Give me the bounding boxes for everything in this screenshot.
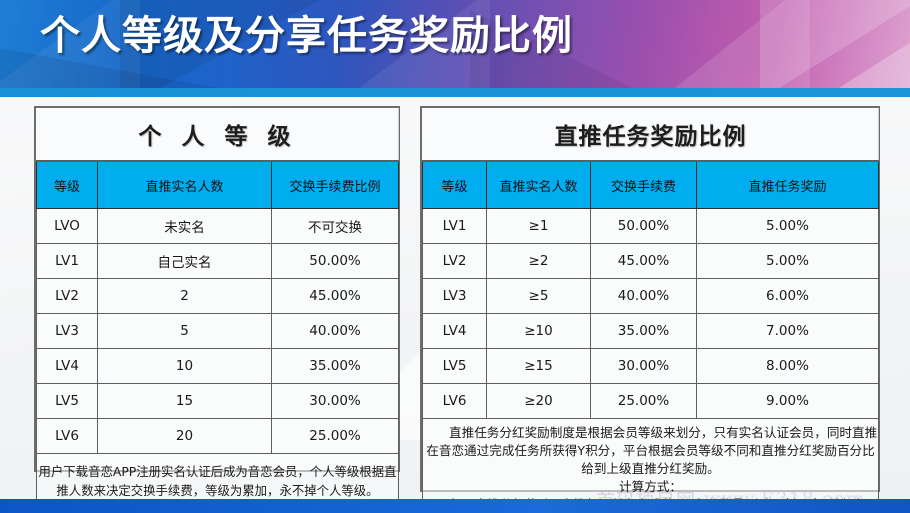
- left-table-title: 个 人 等 级: [37, 108, 399, 161]
- table-title-row: 直推任务奖励比例: [423, 108, 879, 161]
- table-row: LV4 ≥10 35.00% 7.00%: [423, 314, 879, 349]
- cell-fee-ratio: 30.00%: [272, 384, 399, 419]
- cell-referrals: ≥2: [487, 244, 591, 279]
- table-row: LV2 ≥2 45.00% 5.00%: [423, 244, 879, 279]
- cell-referrals: 10: [98, 349, 272, 384]
- cell-referrals: 未实名: [98, 209, 272, 244]
- cell-level: LV6: [37, 419, 98, 454]
- banner-accent-strip: [0, 88, 910, 97]
- banner-facet-6: [760, 0, 910, 88]
- cell-reward: 6.00%: [697, 279, 879, 314]
- table-row: LV3 5 40.00%: [37, 314, 399, 349]
- cell-reward: 8.00%: [697, 349, 879, 384]
- cell-fee-ratio: 35.00%: [272, 349, 399, 384]
- table-header-row: 等级 直推实名人数 交换手续费 直推任务奖励: [423, 161, 879, 209]
- table-row: LV1 自己实名 50.00%: [37, 244, 399, 279]
- cell-level: LV2: [423, 244, 487, 279]
- cell-fee-ratio: 40.00%: [272, 314, 399, 349]
- cell-fee: 50.00%: [591, 209, 697, 244]
- column-header-level: 等级: [423, 161, 487, 209]
- right-table-title: 直推任务奖励比例: [423, 108, 879, 161]
- slide-canvas: 个人等级及分享任务奖励比例 个 人 等 级 等级 直推实名人数 交换手续费比例: [0, 0, 910, 513]
- cell-level: LV6: [423, 384, 487, 419]
- cell-referrals: ≥1: [487, 209, 591, 244]
- cell-fee: 25.00%: [591, 384, 697, 419]
- cell-referrals: 15: [98, 384, 272, 419]
- table-row: LV2 2 45.00%: [37, 279, 399, 314]
- column-header-referrals: 直推实名人数: [98, 161, 272, 209]
- cell-level: LV2: [37, 279, 98, 314]
- cell-fee-ratio: 45.00%: [272, 279, 399, 314]
- cell-level: LV4: [37, 349, 98, 384]
- page-title: 个人等级及分享任务奖励比例: [40, 16, 573, 56]
- header-banner: 个人等级及分享任务奖励比例: [0, 0, 910, 88]
- right-note-label: 计算方式：: [423, 478, 878, 496]
- banner-facet-7: [820, 30, 910, 88]
- right-note-paragraph-1: 直推任务分红奖励制度是根据会员等级来划分，只有实名认证会员，同时直推在音恋通过完…: [423, 424, 878, 478]
- cell-reward: 9.00%: [697, 384, 879, 419]
- cell-referrals: ≥5: [487, 279, 591, 314]
- table-header-row: 等级 直推实名人数 交换手续费比例: [37, 161, 399, 209]
- cell-referrals: 自己实名: [98, 244, 272, 279]
- footer-bar: [0, 499, 910, 513]
- cell-level: LVO: [37, 209, 98, 244]
- left-note-text: 用户下载音恋APP注册实名认证后成为音恋会员，个人等级根据直推人数来决定交换手续…: [37, 463, 398, 500]
- cell-referrals: ≥10: [487, 314, 591, 349]
- cell-level: LV1: [423, 209, 487, 244]
- referral-reward-table: 直推任务奖励比例 等级 直推实名人数 交换手续费 直推任务奖励 LV1 ≥1 5…: [420, 106, 880, 492]
- table-row: LV1 ≥1 50.00% 5.00%: [423, 209, 879, 244]
- cell-level: LV3: [37, 314, 98, 349]
- column-header-fee-ratio: 交换手续费比例: [272, 161, 399, 209]
- column-header-fee: 交换手续费: [591, 161, 697, 209]
- table-row: LV5 ≥15 30.00% 8.00%: [423, 349, 879, 384]
- cell-referrals: 2: [98, 279, 272, 314]
- cell-fee: 30.00%: [591, 349, 697, 384]
- cell-reward: 5.00%: [697, 209, 879, 244]
- column-header-referrals: 直推实名人数: [487, 161, 591, 209]
- table-row: LVO 未实名 不可交换: [37, 209, 399, 244]
- cell-level: LV1: [37, 244, 98, 279]
- cell-level: LV4: [423, 314, 487, 349]
- cell-fee-ratio: 不可交换: [272, 209, 399, 244]
- cell-level: LV5: [37, 384, 98, 419]
- referral-reward-grid: 直推任务奖励比例 等级 直推实名人数 交换手续费 直推任务奖励 LV1 ≥1 5…: [422, 108, 879, 513]
- column-header-reward: 直推任务奖励: [697, 161, 879, 209]
- cell-reward: 7.00%: [697, 314, 879, 349]
- cell-level: LV5: [423, 349, 487, 384]
- table-row: LV6 ≥20 25.00% 9.00%: [423, 384, 879, 419]
- personal-level-table: 个 人 等 级 等级 直推实名人数 交换手续费比例 LVO 未实名 不可交换 L…: [34, 106, 400, 472]
- cell-referrals: ≥20: [487, 384, 591, 419]
- cell-level: LV3: [423, 279, 487, 314]
- cell-fee: 35.00%: [591, 314, 697, 349]
- cell-reward: 5.00%: [697, 244, 879, 279]
- cell-referrals: 5: [98, 314, 272, 349]
- cell-fee: 45.00%: [591, 244, 697, 279]
- cell-fee-ratio: 50.00%: [272, 244, 399, 279]
- table-row: LV6 20 25.00%: [37, 419, 399, 454]
- cell-fee: 40.00%: [591, 279, 697, 314]
- table-row: LV3 ≥5 40.00% 6.00%: [423, 279, 879, 314]
- table-row: LV5 15 30.00%: [37, 384, 399, 419]
- banner-facet-5: [660, 0, 810, 88]
- cell-fee-ratio: 25.00%: [272, 419, 399, 454]
- cell-referrals: ≥15: [487, 349, 591, 384]
- cell-referrals: 20: [98, 419, 272, 454]
- table-row: LV4 10 35.00%: [37, 349, 399, 384]
- column-header-level: 等级: [37, 161, 98, 209]
- personal-level-grid: 个 人 等 级 等级 直推实名人数 交换手续费比例 LVO 未实名 不可交换 L…: [36, 108, 399, 511]
- table-title-row: 个 人 等 级: [37, 108, 399, 161]
